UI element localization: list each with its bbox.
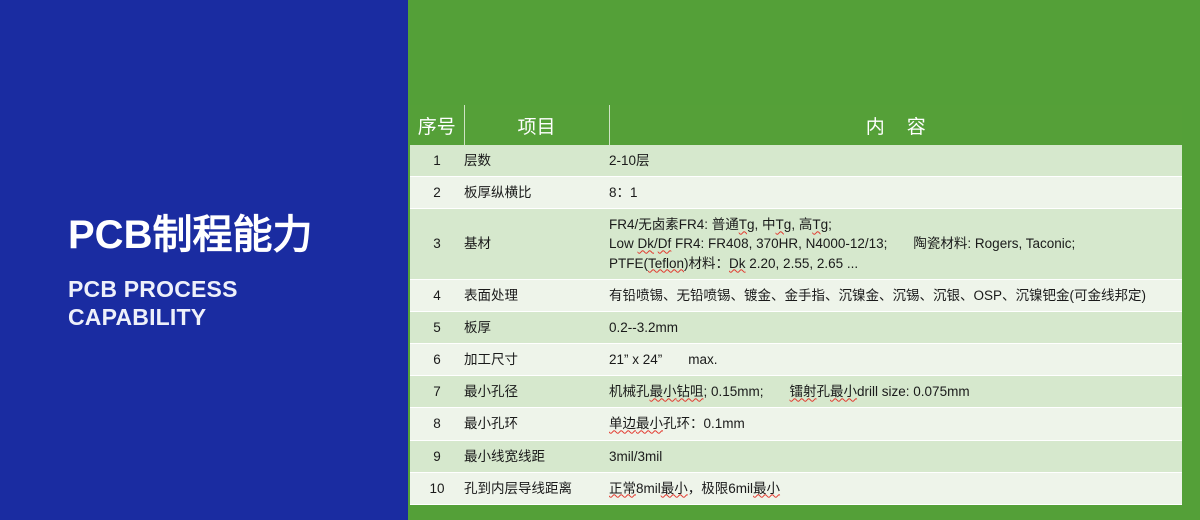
content-line: PTFE(Teflon)材料：Dk 2.20, 2.55, 2.65 ... (609, 254, 1182, 273)
table-row: 9最小线宽线距3mil/3mil (410, 440, 1182, 472)
table-body: 1层数2-10层2板厚纵横比8：13基材FR4/无卤素FR4: 普通Tg, 中T… (410, 145, 1182, 504)
table-row: 8最小孔环单边最小孔环：0.1mm (410, 408, 1182, 440)
cell-item: 最小孔环 (464, 408, 609, 440)
page-subtitle-en: PCB PROCESS CAPABILITY (68, 275, 398, 331)
table-row: 3基材FR4/无卤素FR4: 普通Tg, 中Tg, 高Tg;Low Dk/Df … (410, 209, 1182, 279)
cell-item: 孔到内层导线距离 (464, 472, 609, 504)
cell-content: 有铅喷锡、无铅喷锡、镀金、金手指、沉镍金、沉锡、沉银、OSP、沉镍钯金(可金线邦… (609, 279, 1182, 311)
table-row: 5板厚0.2--3.2mm (410, 311, 1182, 343)
content-line: 8：1 (609, 183, 1182, 202)
cell-item: 基材 (464, 209, 609, 279)
page-title-cn: PCB制程能力 (68, 214, 398, 257)
column-header-content-char2: 容 (907, 117, 926, 138)
cell-item: 板厚纵横比 (464, 177, 609, 209)
table-row: 2板厚纵横比8：1 (410, 177, 1182, 209)
table-header: 序号 项目 内容 (410, 105, 1182, 145)
table-row: 1层数2-10层 (410, 145, 1182, 177)
cell-no: 4 (410, 279, 464, 311)
cell-item: 最小线宽线距 (464, 440, 609, 472)
content-line: 单边最小孔环：0.1mm (609, 414, 1182, 433)
cell-no: 2 (410, 177, 464, 209)
table-row: 4表面处理有铅喷锡、无铅喷锡、镀金、金手指、沉镍金、沉锡、沉银、OSP、沉镍钯金… (410, 279, 1182, 311)
content-line: Low Dk/Df FR4: FR408, 370HR, N4000-12/13… (609, 234, 1182, 253)
column-header-content-char1: 内 (866, 117, 885, 138)
cell-content: 3mil/3mil (609, 440, 1182, 472)
table-row: 7最小孔径机械孔最小钻咀; 0.15mm;镭射孔最小drill size: 0.… (410, 376, 1182, 408)
cell-no: 7 (410, 376, 464, 408)
cell-content: 2-10层 (609, 145, 1182, 177)
page-subtitle-line2: CAPABILITY (68, 303, 398, 331)
left-title-panel: PCB制程能力 PCB PROCESS CAPABILITY (0, 0, 408, 520)
cell-item: 板厚 (464, 311, 609, 343)
content-line: 0.2--3.2mm (609, 318, 1182, 337)
cell-content: 机械孔最小钻咀; 0.15mm;镭射孔最小drill size: 0.075mm (609, 376, 1182, 408)
spec-table-container: 序号 项目 内容 1层数2-10层2板厚纵横比8：13基材FR4/无卤素FR4:… (410, 105, 1182, 505)
cell-content: 单边最小孔环：0.1mm (609, 408, 1182, 440)
cell-item: 最小孔径 (464, 376, 609, 408)
column-header-content: 内容 (609, 105, 1182, 145)
content-line: 机械孔最小钻咀; 0.15mm;镭射孔最小drill size: 0.075mm (609, 382, 1182, 401)
table-row: 6加工尺寸21” x 24”max. (410, 344, 1182, 376)
table-row: 10孔到内层导线距离正常8mil最小，极限6mil最小 (410, 472, 1182, 504)
page-subtitle-line1: PCB PROCESS (68, 275, 398, 303)
cell-no: 10 (410, 472, 464, 504)
content-line: 3mil/3mil (609, 447, 1182, 466)
column-header-no: 序号 (410, 105, 464, 145)
cell-no: 3 (410, 209, 464, 279)
cell-content: 正常8mil最小，极限6mil最小 (609, 472, 1182, 504)
cell-no: 6 (410, 344, 464, 376)
column-header-item: 项目 (464, 105, 609, 145)
cell-no: 1 (410, 145, 464, 177)
content-line: 2-10层 (609, 151, 1182, 170)
cell-no: 5 (410, 311, 464, 343)
cell-content: 21” x 24”max. (609, 344, 1182, 376)
cell-item: 层数 (464, 145, 609, 177)
table-header-row: 序号 项目 内容 (410, 105, 1182, 145)
content-line: 21” x 24”max. (609, 350, 1182, 369)
cell-content: 0.2--3.2mm (609, 311, 1182, 343)
cell-content: FR4/无卤素FR4: 普通Tg, 中Tg, 高Tg;Low Dk/Df FR4… (609, 209, 1182, 279)
cell-item: 加工尺寸 (464, 344, 609, 376)
content-line: 正常8mil最小，极限6mil最小 (609, 479, 1182, 498)
cell-item: 表面处理 (464, 279, 609, 311)
cell-content: 8：1 (609, 177, 1182, 209)
slide-root: PCB制程能力 PCB PROCESS CAPABILITY 序号 项目 内容 (0, 0, 1200, 520)
title-block: PCB制程能力 PCB PROCESS CAPABILITY (68, 214, 398, 331)
spec-table: 序号 项目 内容 1层数2-10层2板厚纵横比8：13基材FR4/无卤素FR4:… (410, 105, 1182, 505)
cell-no: 8 (410, 408, 464, 440)
cell-no: 9 (410, 440, 464, 472)
content-line: 有铅喷锡、无铅喷锡、镀金、金手指、沉镍金、沉锡、沉银、OSP、沉镍钯金(可金线邦… (609, 286, 1182, 305)
content-line: FR4/无卤素FR4: 普通Tg, 中Tg, 高Tg; (609, 215, 1182, 234)
